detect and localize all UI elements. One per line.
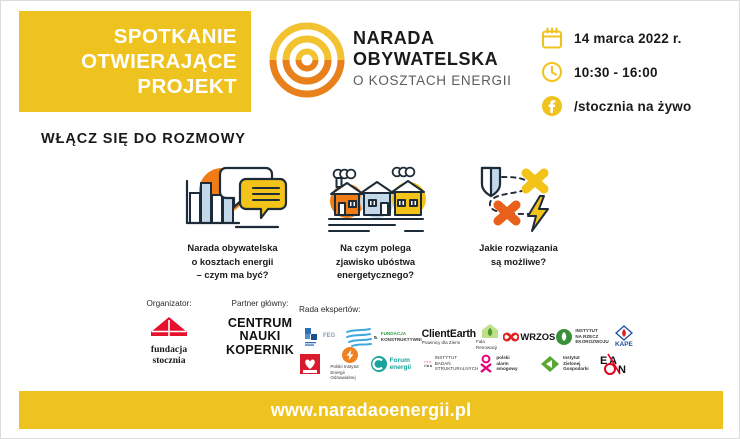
narada-obywatelska-logo-mark [269, 19, 345, 101]
logo-eon: E A N [600, 353, 639, 375]
partners-section: Organizator: fundacja stocznia Partner g… [1, 299, 740, 381]
info-row-date: 14 marca 2022 r. [541, 23, 740, 53]
logo-line-obywatelska: OBYWATELSKA [353, 49, 543, 70]
logo-clientearth-text: ClientEarth [422, 328, 476, 340]
facebook-handle-text: /stocznia na żywo [574, 99, 691, 114]
fundacja-stocznia-logo [129, 316, 209, 345]
event-info-list: 14 marca 2022 r. 10:30 - 16:00 [541, 23, 740, 125]
footer-bar: www.naradaoenergii.pl [19, 391, 723, 429]
shield-path-lightning-icon [460, 161, 578, 233]
logo-instytut-zielonej-gospodarki: Instytut Zielonej Gospodarki [539, 354, 600, 374]
cnk-line-1: CENTRUM [214, 317, 306, 330]
experts-logo-row-2: Polski Instytut Energii Odnawialnej Foru… [299, 350, 639, 377]
experts-logo-rows: FEG [299, 323, 639, 377]
logo-feg: FEG [323, 334, 344, 339]
logo-ibs: i b s INSTYTUT BADAŃ STRUKTURALNYCH [424, 354, 478, 374]
logo-blue-squares [299, 326, 323, 348]
logo-rpo [299, 353, 330, 375]
experts-label: Rada ekspertów: [299, 305, 360, 314]
logo-clientearth: ClientEarth Prawnicy dla Ziemi [422, 328, 476, 345]
organizer-block: Organizator: fundacja stocznia [129, 299, 209, 366]
spotkanie-badge: SPOTKANIE OTWIERAJĄCE PROJEKT [19, 11, 251, 112]
logo-fk-fundacja-konstruktywni: fk FUNDACJA KONSTRUKTYWNI [374, 327, 422, 347]
logo-fala-renowacji-sub: Fala Renowacji [476, 339, 503, 350]
logo-forum-energii-text: Forumenergii [390, 357, 412, 371]
logo-izg-sub: Instytut Zielonej Gospodarki [563, 355, 589, 371]
topic-cards: Narada obywatelska o kosztach energii – … [161, 161, 591, 286]
info-row-time: 10:30 - 16:00 [541, 57, 740, 87]
topic-card-1: Narada obywatelska o kosztach energii – … [161, 161, 304, 286]
logo-line-subtitle: O KOSZTACH ENERGII [353, 71, 543, 90]
logo-wrzos-text: WRZOS [520, 331, 555, 342]
poster-header: SPOTKANIE OTWIERAJĄCE PROJEKT [1, 1, 740, 123]
facebook-icon[interactable] [541, 95, 563, 117]
organizer-label: Organizator: [129, 299, 209, 308]
logo-instytut-na-rzecz-ekorozwoju: INSTYTUT NA RZECZ EKOROZWOJU [555, 328, 608, 346]
logo-ine-sub: INSTYTUT NA RZECZ EKOROZWOJU [575, 328, 608, 344]
calendar-icon [541, 27, 563, 49]
logo-forum-energii: Forumenergii [370, 355, 425, 373]
logo-wrzos: WRZOS [503, 329, 555, 345]
topic-card-2-caption: Na czym polega zjawisko ubóstwa energety… [336, 241, 415, 282]
organizer-name-line1: fundacja [129, 345, 209, 356]
badge-line-1: SPOTKANIE [114, 24, 237, 49]
badge-line-3: PROJEKT [137, 74, 237, 99]
topic-card-3-caption: Jakie rozwiązania są możliwe? [479, 241, 558, 268]
event-date-text: 14 marca 2022 r. [574, 31, 682, 46]
event-time-text: 10:30 - 16:00 [574, 65, 658, 80]
logo-polski-instytut-energii-odnawialnej: Polski Instytut Energii Odnawialnej [330, 346, 369, 380]
logo-polski-alarm-smogowy: polski alarm smogowy [478, 354, 539, 374]
section-heading: WŁĄCZ SIĘ DO ROZMOWY [41, 131, 246, 147]
badge-line-2: OTWIERAJĄCE [81, 49, 237, 74]
poster-root: SPOTKANIE OTWIERAJĄCE PROJEKT [0, 0, 740, 439]
logo-kape-text: KAPE [615, 341, 633, 348]
centrum-nauki-kopernik-logo: CENTRUM NAUKI KOPERNIK [214, 317, 306, 357]
logo-wordmark: NARADA OBYWATELSKA O KOSZTACH ENERGII [353, 28, 543, 90]
topic-card-2: Na czym polega zjawisko ubóstwa energety… [304, 161, 447, 286]
chart-speech-bubbles-icon [174, 161, 292, 233]
info-row-facebook[interactable]: /stocznia na żywo [541, 91, 740, 121]
logo-ibs-sub: INSTYTUT BADAŃ STRUKTURALNYCH [435, 355, 479, 371]
experts-block: Rada ekspertów: FEG [299, 299, 639, 377]
topic-card-3: Jakie rozwiązania są możliwe? [447, 161, 590, 286]
houses-smoke-icon [317, 161, 435, 233]
logo-fala-renowacji: Fala Renowacji [476, 323, 503, 350]
organizer-name-line2: stocznia [129, 356, 209, 367]
website-url[interactable]: www.naradaoenergii.pl [271, 400, 472, 421]
logo-fundacja-wwf-waves [344, 326, 374, 348]
topic-card-1-caption: Narada obywatelska o kosztach energii – … [187, 241, 277, 282]
svg-text:i b s: i b s [425, 363, 433, 367]
clock-icon [541, 61, 563, 83]
logo-feg-text: FEG [323, 334, 335, 339]
main-partner-label: Partner główny: [214, 299, 306, 308]
cnk-line-3: KOPERNIK [214, 344, 306, 357]
cnk-line-2: NAUKI [214, 330, 306, 343]
logo-pas-sub: polski alarm smogowy [496, 355, 517, 371]
logo-clientearth-sub: Prawnicy dla Ziemi [422, 340, 461, 345]
main-partner-block: Partner główny: CENTRUM NAUKI KOPERNIK [214, 299, 306, 357]
logo-fk-sub: FUNDACJA KONSTRUKTYWNI [381, 331, 422, 342]
logo-kape: KAPE [609, 325, 639, 348]
logo-pieo-sub: Polski Instytut Energii Odnawialnej [330, 364, 369, 380]
logo-line-narada: NARADA [353, 28, 543, 49]
